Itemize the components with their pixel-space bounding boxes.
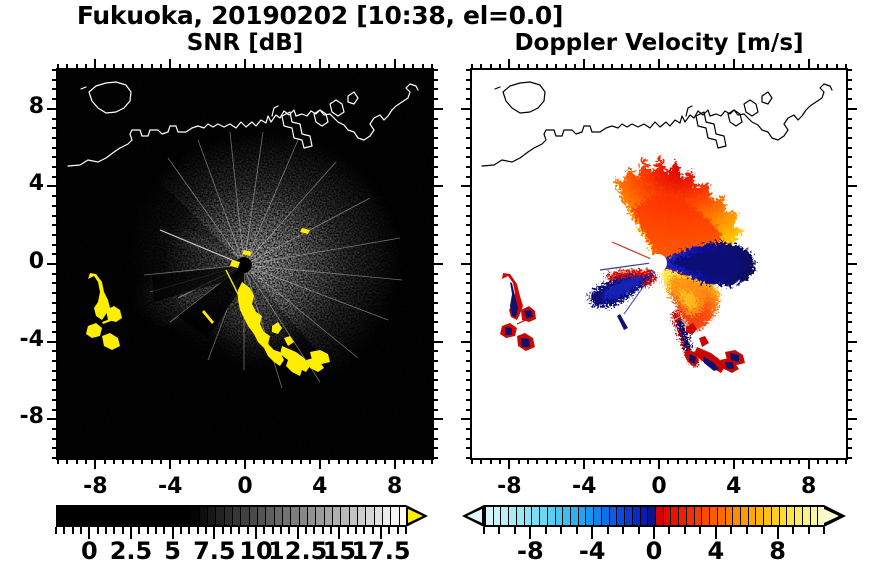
y-tick-doppler [466, 215, 472, 217]
x-tick-top-doppler [836, 64, 838, 70]
doppler-colorbar-segment [787, 507, 795, 525]
snr-colorbar-tick [113, 527, 115, 534]
doppler-colorbar-segment [648, 507, 656, 525]
x-tick-top-doppler [780, 64, 782, 70]
doppler-colorbar-tick [607, 527, 609, 534]
x-tick-top-doppler [826, 64, 828, 70]
x-tick-top-snr [151, 64, 153, 70]
y-tick-doppler [466, 166, 472, 168]
x-tick-top-doppler [630, 64, 632, 70]
x-tick-snr [253, 458, 255, 464]
doppler-colorbar-tick [514, 527, 516, 534]
x-axis-label-doppler-2: 0 [629, 474, 689, 499]
snr-colorbar-tick [180, 527, 182, 534]
x-tick-doppler [808, 458, 810, 469]
y-tick-right-snr [432, 127, 438, 129]
x-tick-snr [328, 458, 330, 464]
doppler-colorbar-segment [633, 507, 641, 525]
x-tick-top-snr [263, 64, 265, 70]
y-tick-doppler [466, 292, 472, 294]
x-tick-top-doppler [705, 64, 707, 70]
snr-colorbar-segment [158, 507, 166, 525]
x-tick-snr [225, 458, 227, 464]
x-tick-snr [356, 458, 358, 464]
snr-colorbar-segment [75, 507, 83, 525]
x-tick-top-doppler [508, 59, 510, 70]
doppler-colorbar-under-triangle [467, 509, 482, 523]
x-tick-doppler [593, 458, 595, 464]
doppler-colorbar-segment [656, 507, 664, 525]
y-tick-right-snr [432, 147, 438, 149]
doppler-colorbar-label-4: 8 [738, 537, 818, 565]
doppler-colorbar-segment [641, 507, 649, 525]
y-tick-doppler [466, 282, 472, 284]
doppler-colorbar-segment [756, 507, 764, 525]
x-tick-top-snr [169, 59, 171, 70]
x-tick-snr [272, 458, 274, 464]
y-tick-snr [52, 166, 58, 168]
y-tick-right-snr [432, 438, 438, 440]
doppler-colorbar-tick [498, 527, 500, 534]
snr-colorbar-segment [241, 507, 249, 525]
doppler-colorbar-tick [823, 527, 825, 534]
x-tick-doppler [499, 458, 501, 464]
y-tick-snr [47, 418, 58, 420]
snr-colorbar-tick [372, 527, 374, 534]
doppler-colorbar-segment [594, 507, 602, 525]
snr-plot-panel[interactable] [56, 68, 434, 460]
snr-colorbar-tick [397, 527, 399, 534]
x-tick-snr [412, 458, 414, 464]
y-tick-doppler [466, 312, 472, 314]
doppler-colorbar-tick [684, 527, 686, 534]
y-tick-right-doppler [846, 409, 852, 411]
snr-plot-svg [58, 70, 432, 458]
y-tick-right-snr [432, 292, 438, 294]
y-tick-doppler [466, 350, 472, 352]
x-tick-doppler [752, 458, 754, 464]
x-tick-top-doppler [480, 64, 482, 70]
x-tick-top-doppler [499, 64, 501, 70]
doppler-colorbar-segment [563, 507, 571, 525]
x-tick-top-doppler [611, 64, 613, 70]
doppler-colorbar-tick [730, 527, 732, 534]
y-tick-right-snr [432, 321, 438, 323]
doppler-colorbar-segment [509, 507, 517, 525]
doppler-colorbar-segment [679, 507, 687, 525]
doppler-colorbar-segment [540, 507, 548, 525]
x-tick-top-snr [412, 64, 414, 70]
y-tick-snr [52, 331, 58, 333]
snr-colorbar-segment [133, 507, 141, 525]
snr-colorbar-segment [83, 507, 91, 525]
x-tick-doppler [723, 458, 725, 464]
doppler-colorbar-segment [741, 507, 749, 525]
x-tick-doppler [546, 458, 548, 464]
y-tick-right-doppler [846, 321, 852, 323]
y-tick-doppler [466, 176, 472, 178]
snr-colorbar-tick [80, 527, 82, 534]
x-tick-top-doppler [536, 64, 538, 70]
y-tick-snr [52, 215, 58, 217]
x-tick-doppler [733, 458, 735, 469]
x-axis-label-snr-3: 4 [290, 474, 350, 499]
y-tick-snr [52, 205, 58, 207]
x-axis-label-doppler-4: 8 [779, 474, 839, 499]
x-tick-snr [309, 458, 311, 464]
snr-colorbar-segment [175, 507, 183, 525]
y-tick-doppler [466, 428, 472, 430]
x-tick-top-snr [272, 64, 274, 70]
snr-colorbar-segment [208, 507, 216, 525]
doppler-colorbar-segment [710, 507, 718, 525]
y-tick-snr [52, 321, 58, 323]
doppler-colorbar-segment [733, 507, 741, 525]
doppler-colorbar-tick [699, 527, 701, 534]
x-tick-doppler [508, 458, 510, 469]
y-tick-right-snr [432, 428, 438, 430]
x-tick-top-snr [85, 64, 87, 70]
y-tick-doppler [466, 409, 472, 411]
snr-colorbar-tick [205, 527, 207, 534]
y-tick-snr [52, 409, 58, 411]
snr-colorbar-segment [275, 507, 283, 525]
y-tick-right-snr [432, 389, 438, 391]
y-tick-snr [47, 108, 58, 110]
y-tick-right-snr [432, 312, 438, 314]
x-tick-doppler [798, 458, 800, 464]
snr-colorbar-segment [383, 507, 391, 525]
y-tick-right-doppler [846, 418, 857, 420]
y-tick-right-doppler [846, 447, 852, 449]
x-tick-top-snr [253, 64, 255, 70]
y-tick-right-doppler [846, 253, 852, 255]
y-tick-snr [47, 185, 58, 187]
snr-colorbar-tick [163, 527, 165, 534]
snr-colorbar-segment [108, 507, 116, 525]
x-tick-top-snr [76, 64, 78, 70]
doppler-colorbar[interactable] [470, 505, 848, 527]
y-tick-doppler [466, 399, 472, 401]
y-tick-right-snr [432, 98, 438, 100]
x-tick-snr [375, 458, 377, 464]
x-tick-top-snr [422, 64, 424, 70]
doppler-colorbar-segment [556, 507, 564, 525]
snr-colorbar-segment [150, 507, 158, 525]
x-tick-snr [141, 458, 143, 464]
doppler-colorbar-segment [718, 507, 726, 525]
x-tick-doppler [780, 458, 782, 464]
y-tick-snr [52, 292, 58, 294]
x-tick-top-doppler [527, 64, 529, 70]
x-tick-doppler [583, 458, 585, 469]
y-tick-right-snr [432, 370, 438, 372]
y-tick-right-doppler [846, 282, 852, 284]
doppler-colorbar-segment [671, 507, 679, 525]
snr-colorbar-segment [366, 507, 374, 525]
snr-colorbar-segment [391, 507, 399, 525]
doppler-colorbar-segment [726, 507, 734, 525]
snr-colorbar-segment [116, 507, 124, 525]
y-tick-right-snr [432, 360, 438, 362]
y-tick-doppler [466, 321, 472, 323]
y-tick-doppler [466, 234, 472, 236]
doppler-colorbar-tick [746, 527, 748, 534]
x-tick-doppler [602, 458, 604, 464]
y-tick-doppler [466, 360, 472, 362]
y-tick-right-doppler [846, 389, 852, 391]
y-tick-snr [52, 176, 58, 178]
y-tick-right-snr [432, 244, 438, 246]
x-tick-doppler [770, 458, 772, 464]
snr-colorbar-tick [388, 527, 390, 534]
x-tick-doppler [658, 458, 660, 469]
y-tick-doppler [466, 447, 472, 449]
doppler-colorbar-tick [808, 527, 810, 534]
y-tick-right-doppler [846, 360, 852, 362]
snr-colorbar-tick [63, 527, 65, 534]
x-tick-snr [169, 458, 171, 469]
x-tick-top-doppler [723, 64, 725, 70]
y-tick-right-snr [432, 118, 438, 120]
snr-colorbar-tick [138, 527, 140, 534]
doppler-colorbar-segment [532, 507, 540, 525]
x-tick-snr [319, 458, 321, 469]
x-tick-doppler [480, 458, 482, 464]
y-tick-doppler [466, 69, 472, 71]
snr-colorbar-segment [58, 507, 66, 525]
snr-colorbar-tick [272, 527, 274, 534]
x-tick-doppler [518, 458, 520, 464]
y-tick-snr [52, 156, 58, 158]
doppler-colorbar-segment [610, 507, 618, 525]
x-tick-snr [188, 458, 190, 464]
doppler-colorbar-segment [617, 507, 625, 525]
y-tick-right-doppler [846, 98, 852, 100]
y-tick-doppler [466, 118, 472, 120]
x-tick-doppler [714, 458, 716, 464]
doppler-colorbar-segment [486, 507, 494, 525]
y-tick-right-snr [432, 224, 438, 226]
y-tick-right-snr [432, 205, 438, 207]
x-tick-top-snr [160, 64, 162, 70]
x-tick-snr [122, 458, 124, 464]
snr-colorbar-segment [191, 507, 199, 525]
snr-colorbar-segment [183, 507, 191, 525]
x-tick-top-doppler [817, 64, 819, 70]
snr-colorbar-segment [358, 507, 366, 525]
snr-colorbar-segment [283, 507, 291, 525]
snr-colorbar-tick [222, 527, 224, 534]
y-tick-snr [52, 147, 58, 149]
snr-colorbar-tick [72, 527, 74, 534]
snr-colorbar-tick [305, 527, 307, 534]
x-tick-top-snr [179, 64, 181, 70]
y-tick-right-doppler [846, 195, 852, 197]
doppler-colorbar-tick [545, 527, 547, 534]
x-tick-top-doppler [555, 64, 557, 70]
x-tick-snr [291, 458, 293, 464]
snr-colorbar-segment [166, 507, 174, 525]
x-tick-top-doppler [789, 64, 791, 70]
y-tick-doppler [461, 263, 472, 265]
x-tick-snr [151, 458, 153, 464]
panel-title-doppler: Doppler Velocity [m/s] [470, 30, 848, 56]
x-tick-doppler [574, 458, 576, 464]
x-tick-top-doppler [490, 64, 492, 70]
snr-colorbar-tick [405, 527, 407, 534]
snr-colorbar-segment [325, 507, 333, 525]
y-tick-snr [52, 389, 58, 391]
snr-colorbar-over-triangle [408, 509, 423, 523]
y-tick-snr [52, 457, 58, 459]
x-tick-snr [94, 458, 96, 469]
y-tick-right-snr [432, 379, 438, 381]
y-tick-snr [52, 428, 58, 430]
y-tick-snr [47, 341, 58, 343]
y-tick-snr [52, 98, 58, 100]
y-tick-snr [52, 447, 58, 449]
y-tick-right-doppler [846, 234, 852, 236]
snr-colorbar-segment [125, 507, 133, 525]
x-tick-top-snr [300, 64, 302, 70]
x-tick-top-doppler [808, 59, 810, 70]
doppler-colorbar-segment [625, 507, 633, 525]
x-tick-doppler [630, 458, 632, 464]
y-tick-doppler [466, 438, 472, 440]
snr-colorbar-segment [375, 507, 383, 525]
doppler-colorbar-segment [517, 507, 525, 525]
y-tick-right-doppler [846, 379, 852, 381]
snr-colorbar-segment [333, 507, 341, 525]
y-tick-snr [52, 350, 58, 352]
y-tick-right-doppler [846, 341, 857, 343]
y-tick-doppler [461, 341, 472, 343]
x-tick-top-doppler [518, 64, 520, 70]
doppler-colorbar-segment [579, 507, 587, 525]
y-tick-snr [52, 234, 58, 236]
snr-colorbar-tick [313, 527, 315, 534]
y-tick-right-snr [432, 137, 438, 139]
snr-colorbar[interactable] [56, 505, 434, 527]
x-tick-top-doppler [761, 64, 763, 70]
x-tick-top-snr [216, 64, 218, 70]
y-tick-doppler [466, 147, 472, 149]
x-tick-top-doppler [714, 64, 716, 70]
x-axis-label-snr-1: -4 [140, 474, 200, 499]
y-tick-right-doppler [846, 118, 852, 120]
snr-colorbar-tick [230, 527, 232, 534]
snr-colorbar-tick [280, 527, 282, 534]
y-tick-doppler [466, 273, 472, 275]
x-tick-doppler [611, 458, 613, 464]
y-tick-doppler [466, 88, 472, 90]
x-tick-snr [300, 458, 302, 464]
doppler-plot-canvas [472, 70, 846, 458]
snr-colorbar-tick [238, 527, 240, 534]
y-tick-doppler [466, 137, 472, 139]
y-tick-doppler [461, 185, 472, 187]
y-tick-doppler [466, 127, 472, 129]
y-tick-doppler [466, 98, 472, 100]
snr-colorbar-label-7: 17.5 [341, 537, 421, 565]
radar-figure: Fukuoka, 20190202 [10:38, el=0.0] SNR [d… [0, 0, 870, 570]
x-tick-snr [347, 458, 349, 464]
y-tick-snr [52, 69, 58, 71]
y-tick-right-doppler [846, 176, 852, 178]
y-tick-snr [52, 379, 58, 381]
y-tick-doppler [466, 379, 472, 381]
x-tick-snr [160, 458, 162, 464]
doppler-colorbar-tick [668, 527, 670, 534]
y-tick-right-doppler [846, 127, 852, 129]
y-tick-right-doppler [846, 147, 852, 149]
y-tick-right-doppler [846, 185, 857, 187]
y-tick-snr [52, 224, 58, 226]
x-tick-top-snr [394, 59, 396, 70]
x-tick-top-snr [66, 64, 68, 70]
y-tick-right-snr [432, 79, 438, 81]
x-tick-top-snr [235, 64, 237, 70]
y-tick-snr [52, 370, 58, 372]
snr-colorbar-segment [233, 507, 241, 525]
y-tick-snr [52, 312, 58, 314]
snr-colorbar-body [56, 505, 406, 527]
x-tick-top-doppler [639, 64, 641, 70]
y-tick-doppler [461, 418, 472, 420]
y-tick-snr [52, 302, 58, 304]
y-tick-snr [52, 88, 58, 90]
x-tick-snr [104, 458, 106, 464]
x-tick-top-snr [328, 64, 330, 70]
x-tick-top-doppler [574, 64, 576, 70]
y-tick-right-snr [432, 88, 438, 90]
y-tick-right-doppler [846, 438, 852, 440]
doppler-plot-panel[interactable] [470, 68, 848, 460]
y-tick-doppler [466, 331, 472, 333]
x-tick-top-doppler [677, 64, 679, 70]
y-tick-right-snr [432, 253, 438, 255]
x-tick-doppler [536, 458, 538, 464]
y-tick-right-doppler [846, 79, 852, 81]
y-tick-right-snr [432, 457, 438, 459]
x-tick-doppler [705, 458, 707, 464]
x-tick-top-snr [403, 64, 405, 70]
y-tick-doppler [466, 370, 472, 372]
y-axis-label-3: -4 [2, 327, 44, 352]
x-tick-top-doppler [658, 59, 660, 70]
snr-colorbar-segment [308, 507, 316, 525]
y-tick-doppler [466, 205, 472, 207]
x-tick-top-doppler [686, 64, 688, 70]
x-tick-top-snr [375, 64, 377, 70]
y-tick-right-doppler [846, 244, 852, 246]
x-tick-snr [244, 458, 246, 469]
snr-colorbar-tick [188, 527, 190, 534]
y-tick-snr [52, 253, 58, 255]
x-tick-top-snr [338, 64, 340, 70]
y-tick-right-snr [432, 302, 438, 304]
y-tick-right-doppler [846, 205, 852, 207]
snr-colorbar-tick [155, 527, 157, 534]
x-tick-top-snr [197, 64, 199, 70]
y-tick-snr [52, 244, 58, 246]
x-tick-top-doppler [742, 64, 744, 70]
x-tick-snr [366, 458, 368, 464]
y-tick-right-snr [432, 273, 438, 275]
x-tick-snr [263, 458, 265, 464]
doppler-colorbar-tick [792, 527, 794, 534]
